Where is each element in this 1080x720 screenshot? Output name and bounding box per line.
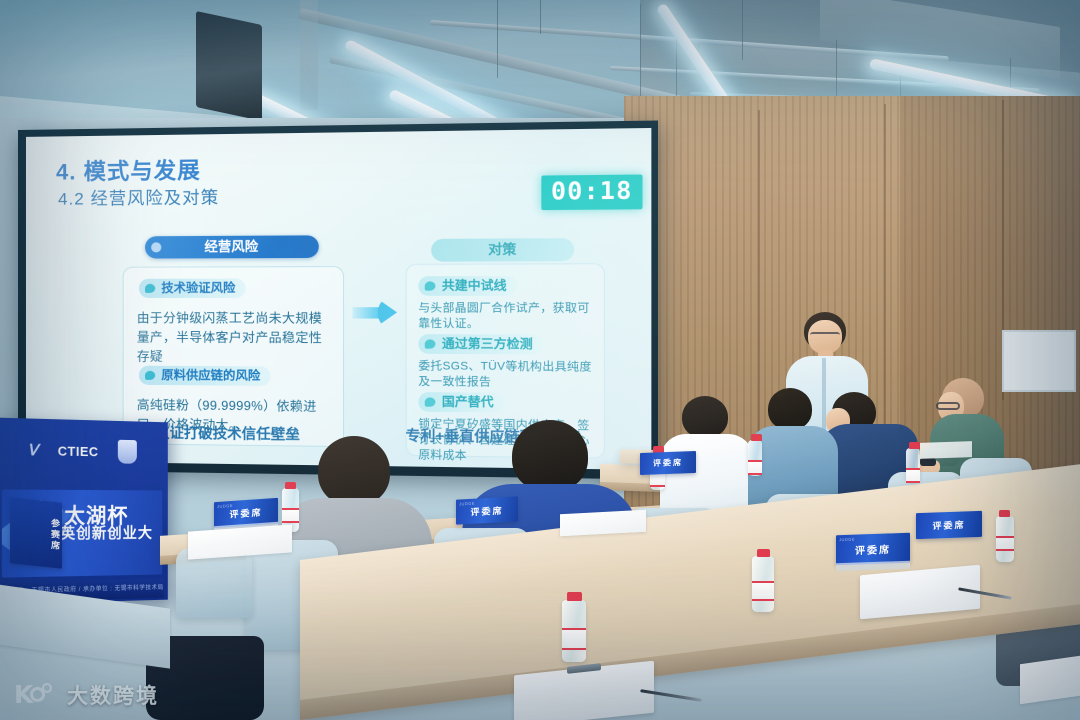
name-card-text: 评委席	[640, 457, 696, 470]
judge-green-glasses-icon	[936, 402, 960, 410]
risk-tag-1: 技术验证风险	[139, 279, 246, 298]
standee-side-card: 参赛席	[10, 497, 62, 568]
paper-sheet	[920, 441, 972, 459]
measure-tag-1: 共建中试线	[418, 276, 517, 296]
bottle-label	[282, 508, 299, 523]
bottle-cap	[757, 549, 770, 557]
risk-text-1: 由于分钟级闪蒸工艺尚未大规模量产，半导体客户对产品稳定性存疑	[137, 309, 334, 368]
water-bottle	[562, 600, 586, 662]
conference-room-scene: 4. 模式与发展 4.2 经营风险及对策 00:18 经营风险 技术验证风险 由…	[0, 0, 1080, 720]
measure-text-1: 与头部晶圆厂合作试产，获取可靠性认证。	[418, 301, 594, 333]
measure-tag-3: 国产替代	[418, 392, 504, 412]
name-card-text: 评委席	[456, 502, 518, 518]
hanger-wire	[540, 0, 541, 34]
slide-subtitle: 4.2 经营风险及对策	[58, 183, 219, 210]
bottle-label	[562, 628, 586, 650]
leaf-bullet-icon	[145, 371, 155, 380]
paper-sheet	[1020, 656, 1080, 704]
slide-title: 4. 模式与发展	[56, 153, 201, 187]
wuxi-mark-icon: ᐯ	[27, 441, 37, 459]
judge-steel-head	[768, 388, 812, 430]
hanger-wire	[497, 0, 498, 78]
water-bottle	[996, 516, 1014, 562]
bottle-cap	[909, 442, 920, 449]
slide-right-column-header: 对策	[431, 238, 574, 262]
presenter-glasses-icon	[810, 332, 840, 341]
watermark-logo-icon: K	[14, 681, 58, 709]
water-bottle	[906, 448, 920, 482]
water-bottle	[748, 440, 762, 476]
ceiling-speaker	[196, 11, 262, 121]
name-card-text: 评委席	[836, 540, 910, 558]
watermark-text: 大数跨境	[67, 680, 159, 710]
arrow-right-icon	[353, 299, 398, 326]
ceiling-duct-vertical	[300, 0, 318, 110]
bottle-label	[906, 468, 920, 483]
water-bottle	[752, 556, 774, 612]
leaf-bullet-icon	[145, 284, 155, 293]
name-card: 评委席	[916, 511, 982, 539]
standee-logo-row: ᐯ CTIEC	[0, 432, 168, 469]
bottle-label	[996, 536, 1014, 551]
slide-left-column-header: 经营风险	[145, 235, 319, 258]
bottle-label	[752, 581, 774, 601]
ctiec-logo: CTIEC	[58, 443, 99, 459]
check-bullet-icon	[425, 281, 436, 290]
bottle-cap	[567, 592, 582, 601]
standee-side-card-text: 参赛席	[10, 514, 62, 552]
emblem-icon	[118, 440, 137, 464]
name-card-text: 评委席	[916, 517, 982, 532]
bottle-cap	[999, 510, 1010, 517]
name-card: 评委席	[640, 451, 696, 475]
check-bullet-icon	[425, 397, 436, 406]
judge-white-head	[682, 396, 728, 438]
slide-surface: 4. 模式与发展 4.2 经营风险及对策 00:18 经营风险 技术验证风险 由…	[26, 128, 651, 470]
paper-sheet	[560, 510, 646, 537]
watermark: K 大数跨境	[14, 680, 159, 710]
measure-tag-2: 通过第三方检测	[418, 334, 543, 354]
bottle-cap	[751, 434, 762, 441]
bottle-label	[748, 460, 762, 475]
countdown-timer: 00:18	[541, 175, 642, 211]
hanger-wire	[640, 4, 641, 100]
name-card: JUDGE 评委席	[456, 496, 518, 524]
risk-tag-2: 原料供应链的风险	[139, 366, 271, 386]
measure-text-2: 委托SGS、TÜV等机构出具纯度及一致性报告	[418, 359, 594, 391]
attendee-blue-head	[512, 420, 588, 492]
attendee-grey-head	[318, 436, 390, 506]
bottle-cap	[285, 482, 296, 489]
check-bullet-icon	[425, 339, 436, 348]
hanger-wire	[742, 0, 743, 60]
